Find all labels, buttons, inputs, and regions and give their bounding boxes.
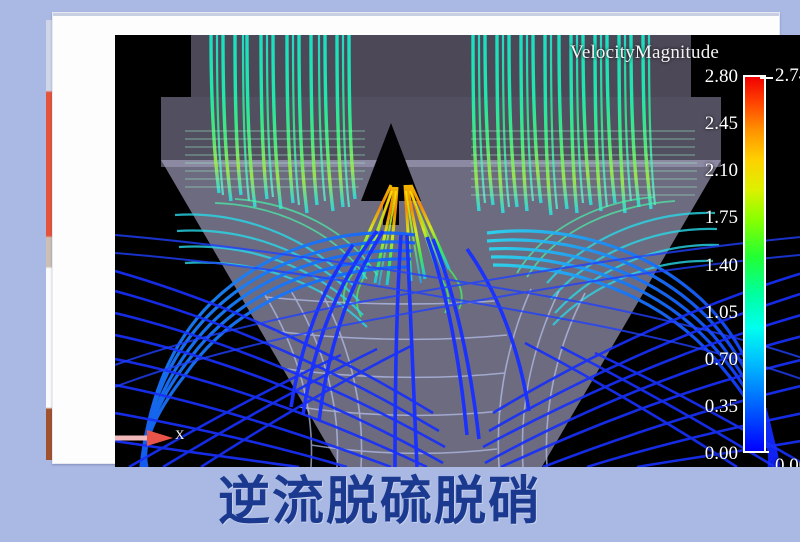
colorbar-title: VelocityMagnitude bbox=[570, 42, 719, 64]
image-frame: VelocityMagnitude 2.80 2.45 2.10 1.75 1.… bbox=[52, 12, 780, 464]
colorbar-tick-labels: 2.80 2.45 2.10 1.75 1.40 1.05 0.70 0.35 … bbox=[660, 67, 738, 463]
data-min-label: 0.00 bbox=[775, 455, 800, 467]
data-min-tick-mark bbox=[756, 451, 769, 453]
render-viewport: VelocityMagnitude 2.80 2.45 2.10 1.75 1.… bbox=[115, 35, 800, 467]
colorbar-gradient bbox=[743, 75, 766, 453]
orientation-axes-widget: X bbox=[115, 425, 197, 451]
data-max-tick-mark bbox=[760, 77, 773, 79]
colorbar-tick: 2.45 bbox=[705, 114, 738, 133]
data-max-label: 2.74 bbox=[775, 65, 800, 87]
colorbar-tick: 2.80 bbox=[705, 67, 738, 86]
colorbar-tick: 0.70 bbox=[705, 350, 738, 369]
colorbar-tick: 1.05 bbox=[705, 303, 738, 322]
colorbar-tick: 2.10 bbox=[705, 161, 738, 180]
x-axis-arrow-icon bbox=[115, 425, 197, 451]
colorbar-tick: 0.00 bbox=[705, 444, 738, 463]
colorbar-tick: 0.35 bbox=[705, 397, 738, 416]
slide-caption: 逆流脱硫脱硝 bbox=[0, 470, 760, 536]
colorbar-tick: 1.40 bbox=[705, 256, 738, 275]
axis-label-x: X bbox=[175, 427, 184, 443]
colorbar-tick: 1.75 bbox=[705, 208, 738, 227]
slide-canvas: VelocityMagnitude 2.80 2.45 2.10 1.75 1.… bbox=[0, 0, 800, 542]
